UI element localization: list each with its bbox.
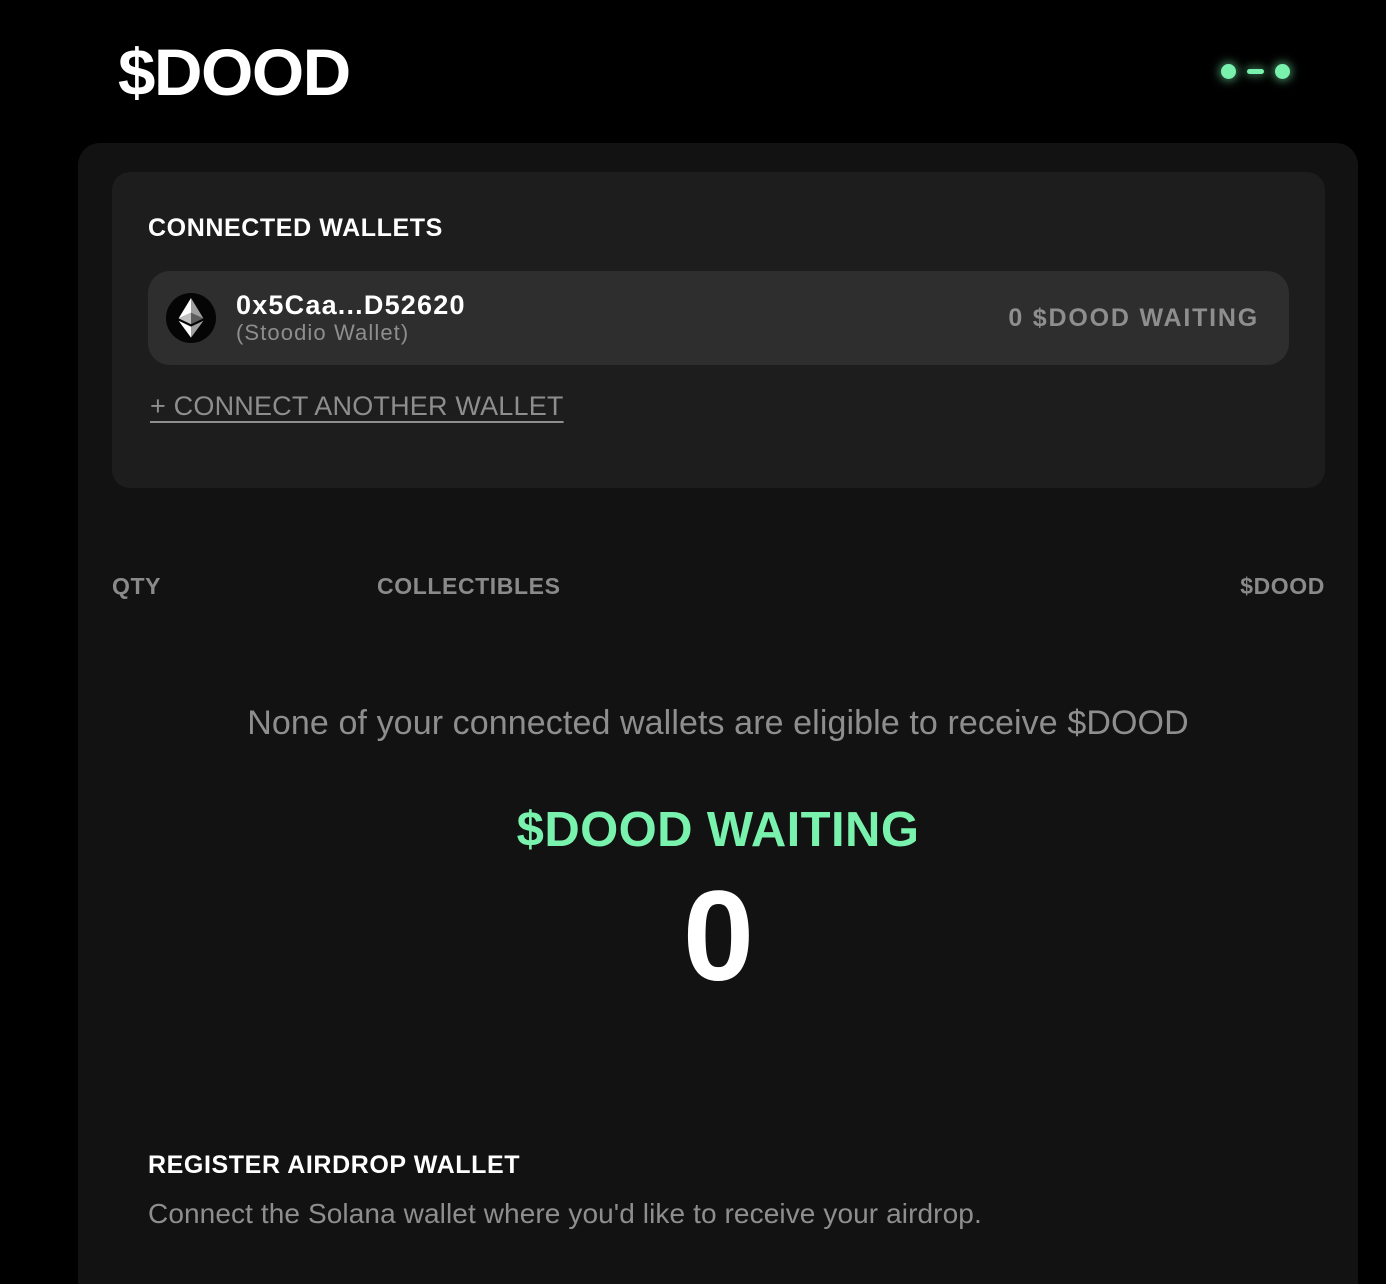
status-dash-icon	[1247, 69, 1264, 74]
connected-wallets-card: CONNECTED WALLETS 0x5C	[112, 172, 1325, 488]
app-header: $DOOD	[0, 0, 1386, 143]
register-airdrop-title: REGISTER AIRDROP WALLET	[148, 1153, 1288, 1178]
wallet-meta: 0x5Caa...D52620 (Stoodio Wallet)	[236, 290, 466, 346]
empty-state-message: None of your connected wallets are eligi…	[78, 703, 1358, 744]
dood-waiting-value: 0	[78, 863, 1358, 1010]
status-dot-right-icon	[1275, 64, 1290, 79]
status-dot-left-icon	[1221, 64, 1236, 79]
column-header-collectibles: COLLECTIBLES	[377, 573, 1240, 600]
wallet-list-item[interactable]: 0x5Caa...D52620 (Stoodio Wallet) 0 $DOOD…	[148, 271, 1289, 365]
register-airdrop-wallet-section: REGISTER AIRDROP WALLET Connect the Sola…	[148, 1153, 1288, 1231]
connection-status-indicator	[1221, 64, 1290, 79]
connect-another-wallet-link[interactable]: + CONNECT ANOTHER WALLET	[150, 391, 564, 422]
dood-waiting-label: $DOOD WAITING	[78, 806, 1358, 855]
connected-wallets-title: CONNECTED WALLETS	[148, 216, 1289, 241]
eligibility-empty-state: None of your connected wallets are eligi…	[78, 703, 1358, 1010]
ethereum-icon	[166, 293, 216, 343]
brand-logo: $DOOD	[118, 39, 350, 105]
wallet-address: 0x5Caa...D52620	[236, 290, 466, 320]
column-header-dood: $DOOD	[1240, 573, 1325, 600]
collectibles-table-headers: QTY COLLECTIBLES $DOOD	[112, 573, 1325, 600]
app-screen: $DOOD CONNECTED WALLETS	[0, 0, 1386, 1284]
column-header-qty: QTY	[112, 573, 377, 600]
main-panel: CONNECTED WALLETS 0x5C	[78, 143, 1358, 1284]
wallet-identity: 0x5Caa...D52620 (Stoodio Wallet)	[166, 290, 466, 346]
wallet-nickname: (Stoodio Wallet)	[236, 321, 466, 346]
register-airdrop-subtitle: Connect the Solana wallet where you'd li…	[148, 1197, 1288, 1231]
wallet-dood-waiting-amount: 0 $DOOD WAITING	[1008, 304, 1259, 333]
